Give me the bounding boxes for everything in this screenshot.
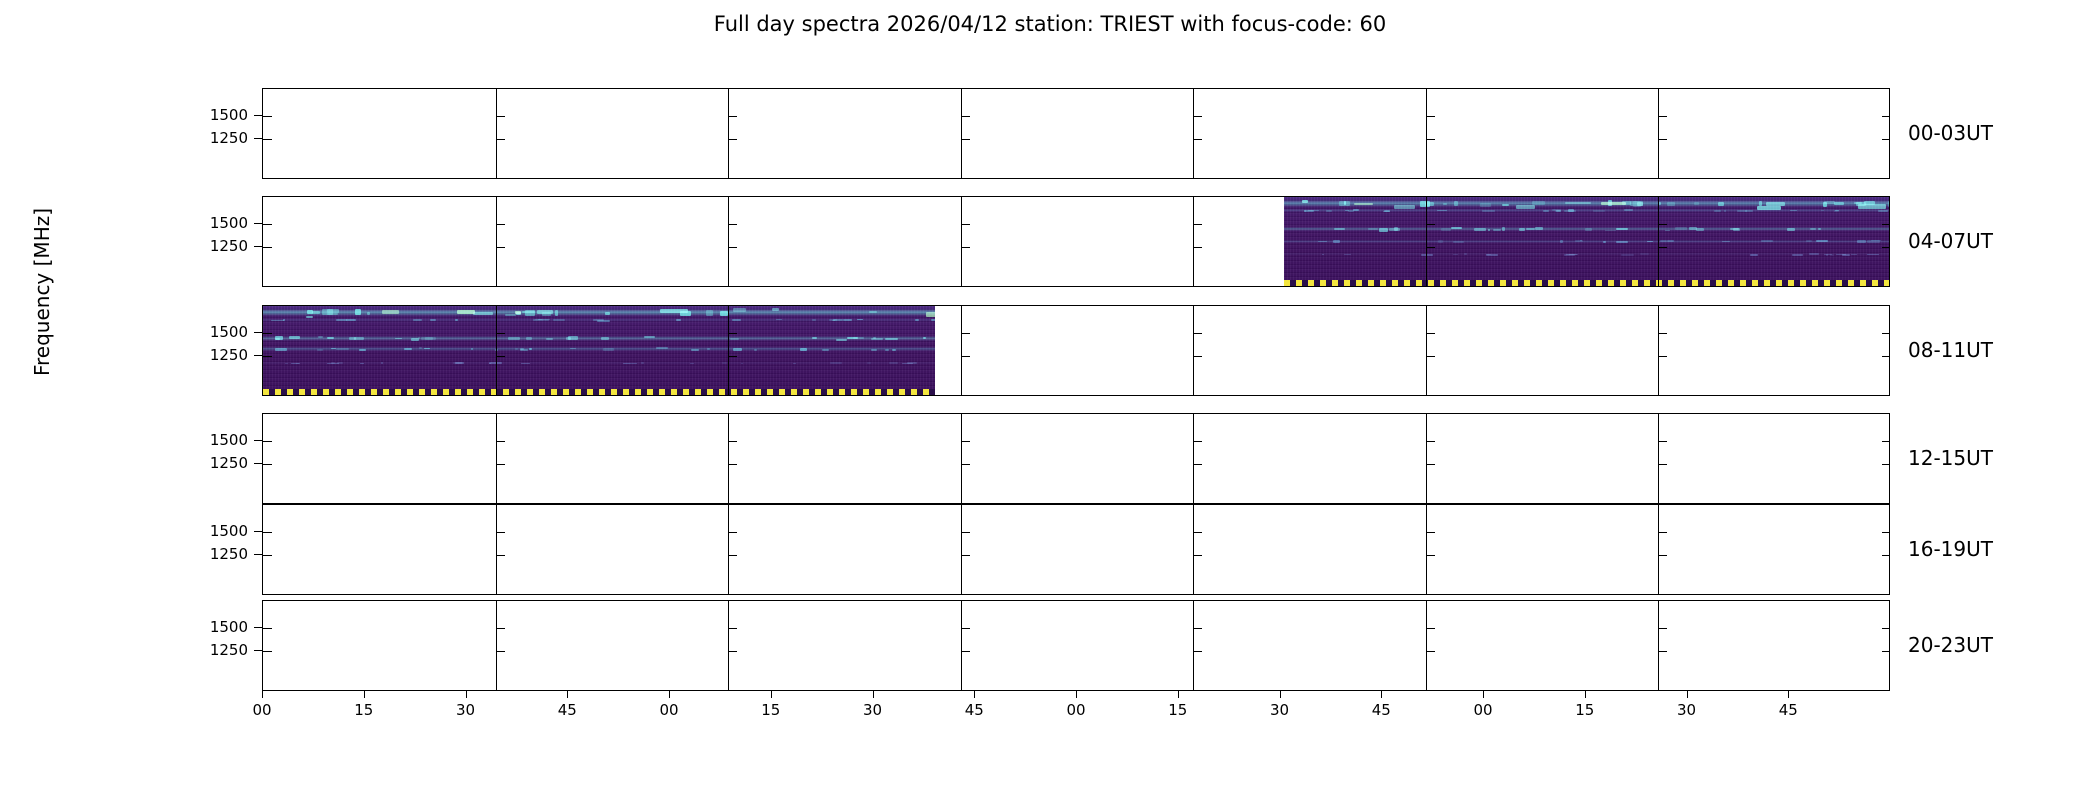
rfi-speckle: [1616, 228, 1628, 230]
rfi-speckle: [1889, 240, 1890, 242]
subpanel-divider: [1426, 197, 1427, 286]
rfi-burst: [926, 312, 935, 316]
x-tick-label: 30: [1667, 701, 1707, 719]
x-tick-label: 45: [1361, 701, 1401, 719]
y-tick-mark: [1426, 247, 1435, 248]
rfi-speckle: [720, 311, 729, 316]
rfi-speckle: [1451, 227, 1462, 229]
rfi-speckle: [1730, 228, 1740, 230]
rfi-speckle: [1718, 202, 1724, 205]
subpanel-divider: [496, 505, 497, 594]
y-tick-mark: [1658, 464, 1667, 465]
rfi-speckle: [706, 310, 713, 316]
y-tick-mark: [1426, 555, 1435, 556]
rfi-speckle: [1810, 228, 1816, 230]
rfi-speckle: [1750, 254, 1758, 256]
y-axis-label: Frequency [MHz]: [30, 162, 54, 422]
y-tick-mark: [496, 224, 505, 225]
rfi-speckle: [1304, 210, 1314, 212]
y-tick-mark: [1193, 139, 1202, 140]
y-tick-mark: [263, 555, 272, 556]
x-tick-mark: [262, 691, 263, 698]
y-tick-mark: [728, 247, 737, 248]
y-tick-mark: [1882, 224, 1890, 225]
rfi-burst: [660, 309, 688, 312]
rfi-speckle: [1761, 240, 1773, 243]
spectrogram-row-00-03ut[interactable]: [262, 88, 1890, 179]
x-tick-mark: [771, 691, 772, 698]
rfi-speckle: [1453, 241, 1464, 243]
y-tick-label: 1250: [186, 454, 248, 472]
x-tick-label: 15: [1565, 701, 1605, 719]
subpanel-divider: [1426, 601, 1427, 690]
subpanel-divider: [1426, 306, 1427, 395]
y-tick-mark: [496, 532, 505, 533]
rfi-speckle: [691, 349, 699, 351]
rfi-speckle: [690, 363, 694, 365]
rfi-speckle: [601, 337, 609, 340]
rfi-speckle: [1867, 240, 1879, 242]
x-tick-label: 30: [1260, 701, 1300, 719]
rfi-speckle: [1722, 241, 1730, 243]
rfi-speckle: [275, 348, 288, 351]
y-tick-mark: [961, 116, 970, 117]
y-tick-mark: [1193, 628, 1202, 629]
y-tick-mark: [254, 627, 262, 628]
rfi-burst: [1302, 200, 1308, 203]
rfi-speckle: [1394, 227, 1398, 230]
rfi-speckle: [707, 348, 710, 350]
y-tick-mark: [496, 333, 505, 334]
rfi-speckle: [722, 362, 726, 364]
rfi-streak: [263, 309, 935, 316]
rfi-burst: [382, 310, 399, 314]
subpanel-divider: [961, 601, 962, 690]
y-tick-mark: [1658, 247, 1667, 248]
y-tick-mark: [1658, 224, 1667, 225]
y-tick-mark: [254, 138, 262, 139]
y-tick-mark: [263, 464, 272, 465]
y-tick-label: 1250: [186, 346, 248, 364]
rfi-speckle: [1334, 228, 1344, 230]
subpanel-divider: [728, 306, 729, 395]
spectrogram-data-04-07ut[interactable]: [1284, 197, 1890, 286]
x-tick-mark: [567, 691, 568, 698]
subpanel-divider: [961, 505, 962, 594]
rfi-speckle: [289, 336, 300, 338]
y-tick-mark: [496, 356, 505, 357]
rfi-burst: [1565, 202, 1591, 204]
y-tick-mark: [1658, 441, 1667, 442]
y-tick-mark: [1426, 116, 1435, 117]
rfi-streak: [263, 336, 935, 341]
rfi-speckle: [1339, 201, 1350, 206]
y-tick-mark: [1658, 532, 1667, 533]
y-tick-mark: [728, 651, 737, 652]
rfi-speckle: [1493, 229, 1501, 231]
y-tick-mark: [961, 532, 970, 533]
marker-dotted-row: [1284, 280, 1890, 286]
rfi-speckle: [885, 338, 898, 340]
y-tick-mark: [263, 139, 272, 140]
y-tick-mark: [1193, 555, 1202, 556]
y-tick-mark: [1882, 651, 1890, 652]
rfi-burst: [1354, 203, 1373, 205]
subpanel-divider: [1193, 89, 1194, 178]
rfi-speckle: [505, 314, 515, 316]
rfi-burst: [537, 310, 553, 314]
rfi-speckle: [367, 312, 370, 315]
rfi-speckle: [1826, 254, 1829, 256]
y-tick-mark: [263, 247, 272, 248]
rfi-speckle: [593, 319, 604, 321]
y-tick-mark: [728, 532, 737, 533]
rfi-speckle: [867, 362, 871, 364]
rfi-speckle: [1535, 227, 1543, 230]
row-label-08-11ut: 08-11UT: [1908, 338, 1993, 362]
rfi-speckle: [1564, 210, 1576, 212]
x-tick-mark: [1687, 691, 1688, 698]
plot-area: [262, 88, 1890, 710]
subpanel-divider: [1426, 89, 1427, 178]
y-tick-mark: [961, 356, 970, 357]
rfi-burst: [1601, 202, 1626, 205]
subpanel-divider: [1193, 505, 1194, 594]
rfi-speckle: [419, 347, 421, 349]
rfi-burst: [772, 308, 779, 310]
y-tick-mark: [1882, 356, 1890, 357]
subpanel-divider: [1426, 414, 1427, 503]
y-tick-label: 1500: [186, 431, 248, 449]
y-tick-mark: [1426, 139, 1435, 140]
y-tick-mark: [1658, 116, 1667, 117]
subpanel-divider: [1658, 306, 1659, 395]
rfi-speckle: [1368, 228, 1379, 230]
y-tick-mark: [263, 333, 272, 334]
subpanel-divider: [1658, 89, 1659, 178]
subpanel-divider: [496, 306, 497, 395]
rfi-speckle: [1560, 240, 1563, 242]
rfi-speckle: [1454, 201, 1458, 205]
rfi-speckle: [1834, 202, 1844, 204]
spectrogram-data-08-11ut[interactable]: [263, 306, 935, 395]
subpanel-divider: [1658, 197, 1659, 286]
rfi-speckle: [1344, 254, 1351, 256]
y-tick-mark: [1193, 464, 1202, 465]
rfi-speckle: [730, 338, 739, 340]
rfi-speckle: [869, 311, 877, 313]
rfi-speckle: [312, 311, 320, 314]
y-tick-mark: [961, 651, 970, 652]
y-tick-mark: [496, 116, 505, 117]
y-tick-mark: [254, 115, 262, 116]
rfi-speckle: [508, 337, 521, 340]
rfi-burst: [733, 308, 747, 312]
x-tick-mark: [466, 691, 467, 698]
rfi-speckle: [1694, 202, 1699, 204]
y-tick-mark: [263, 532, 272, 533]
rfi-speckle: [1745, 210, 1753, 212]
x-tick-mark: [1788, 691, 1789, 698]
y-tick-mark: [728, 441, 737, 442]
rfi-speckle: [1821, 210, 1824, 212]
rfi-speckle: [822, 349, 829, 351]
spectrogram-row-04-07ut[interactable]: [262, 196, 1890, 287]
rfi-speckle: [931, 319, 936, 321]
y-tick-mark: [1426, 333, 1435, 334]
subpanel-divider: [728, 414, 729, 503]
rfi-speckle: [923, 337, 926, 339]
subpanel-divider: [1193, 414, 1194, 503]
y-tick-mark: [1882, 464, 1890, 465]
rfi-speckle: [1480, 203, 1491, 207]
spectrogram-row-16-19ut[interactable]: [262, 504, 1890, 595]
rfi-speckle: [1482, 210, 1494, 212]
rfi-speckle: [360, 363, 364, 365]
subpanel-divider: [1193, 197, 1194, 286]
x-tick-mark: [1381, 691, 1382, 698]
x-tick-label: 30: [446, 701, 486, 719]
rfi-speckle: [1792, 254, 1802, 256]
subpanel-divider: [961, 306, 962, 395]
y-tick-mark: [728, 464, 737, 465]
y-tick-mark: [1426, 356, 1435, 357]
rfi-speckle: [355, 309, 361, 314]
rfi-speckle: [1502, 227, 1504, 230]
row-label-04-07ut: 04-07UT: [1908, 229, 1993, 253]
y-tick-mark: [1426, 628, 1435, 629]
rfi-speckle: [1889, 210, 1890, 212]
subpanel-divider: [1193, 306, 1194, 395]
x-tick-mark: [873, 691, 874, 698]
rfi-speckle: [354, 337, 364, 340]
y-tick-mark: [728, 139, 737, 140]
rfi-streak: [1284, 240, 1890, 243]
x-tick-mark: [1585, 691, 1586, 698]
rfi-speckle: [800, 348, 807, 351]
rfi-speckle: [1474, 228, 1485, 231]
rfi-speckle: [605, 312, 610, 315]
rfi-speckle: [1867, 254, 1878, 256]
y-tick-label: 1500: [186, 323, 248, 341]
rfi-speckle: [1569, 254, 1577, 256]
y-tick-mark: [254, 440, 262, 441]
rfi-speckle: [1526, 228, 1535, 230]
rfi-speckle: [317, 349, 323, 351]
y-tick-mark: [1193, 356, 1202, 357]
rfi-speckle: [656, 347, 667, 349]
rfi-speckle: [1326, 210, 1332, 212]
y-tick-label: 1250: [186, 641, 248, 659]
rfi-speckle: [1888, 201, 1890, 206]
subpanel-divider: [496, 89, 497, 178]
y-tick-mark: [1193, 247, 1202, 248]
rfi-burst: [516, 312, 521, 315]
y-tick-mark: [1658, 333, 1667, 334]
y-tick-label: 1500: [186, 522, 248, 540]
rfi-speckle: [291, 363, 301, 365]
x-tick-label: 00: [1056, 701, 1096, 719]
subpanel-divider: [496, 601, 497, 690]
rfi-speckle: [1714, 210, 1720, 212]
y-tick-label: 1500: [186, 214, 248, 232]
x-tick-label: 45: [547, 701, 587, 719]
row-label-16-19ut: 16-19UT: [1908, 537, 1993, 561]
rfi-speckle: [271, 320, 284, 322]
y-tick-mark: [1882, 532, 1890, 533]
y-tick-label: 1250: [186, 545, 248, 563]
y-tick-mark: [1658, 651, 1667, 652]
rfi-speckle: [676, 319, 681, 321]
x-tick-label: 00: [649, 701, 689, 719]
subpanel-divider: [961, 414, 962, 503]
rfi-speckle: [1556, 210, 1560, 212]
rfi-speckle: [413, 319, 422, 321]
subpanel-divider: [1658, 601, 1659, 690]
y-tick-mark: [1193, 651, 1202, 652]
y-tick-mark: [254, 531, 262, 532]
y-tick-mark: [254, 650, 262, 651]
x-tick-mark: [974, 691, 975, 698]
rfi-speckle: [546, 338, 553, 340]
y-tick-mark: [1882, 139, 1890, 140]
x-tick-mark: [1483, 691, 1484, 698]
y-tick-mark: [1882, 333, 1890, 334]
rfi-speckle: [1689, 227, 1697, 230]
rfi-speckle: [1543, 210, 1549, 212]
x-tick-label: 45: [954, 701, 994, 719]
rfi-speckle: [1660, 240, 1666, 242]
x-tick-label: 15: [751, 701, 791, 719]
rfi-speckle: [733, 348, 742, 351]
x-tick-label: 00: [242, 701, 282, 719]
y-tick-mark: [961, 247, 970, 248]
y-tick-mark: [1426, 464, 1435, 465]
y-tick-label: 1250: [186, 237, 248, 255]
y-tick-mark: [254, 463, 262, 464]
y-tick-mark: [1193, 333, 1202, 334]
y-tick-mark: [263, 116, 272, 117]
subpanel-divider: [728, 601, 729, 690]
y-tick-mark: [254, 554, 262, 555]
y-tick-mark: [728, 628, 737, 629]
y-tick-mark: [728, 555, 737, 556]
rfi-speckle: [1593, 210, 1606, 212]
rfi-speckle: [1830, 254, 1833, 256]
rfi-speckle: [455, 362, 464, 364]
rfi-speckle: [1667, 202, 1675, 207]
rfi-speckle: [404, 348, 412, 350]
rfi-speckle: [902, 363, 913, 365]
y-tick-mark: [961, 464, 970, 465]
y-tick-label: 1500: [186, 618, 248, 636]
rfi-speckle: [830, 362, 842, 364]
x-tick-label: 45: [1768, 701, 1808, 719]
subpanel-divider: [1426, 505, 1427, 594]
y-tick-mark: [1193, 532, 1202, 533]
rfi-speckle: [336, 348, 349, 351]
rfi-speckle: [1809, 253, 1819, 255]
rfi-streak: [1284, 209, 1890, 212]
rfi-speckle: [515, 348, 518, 350]
y-tick-mark: [263, 441, 272, 442]
rfi-speckle: [836, 339, 847, 341]
rfi-speckle: [489, 363, 491, 365]
rfi-speckle: [1441, 228, 1450, 231]
rfi-speckle: [1857, 240, 1866, 242]
x-tick-mark: [1280, 691, 1281, 698]
rfi-burst: [306, 316, 312, 318]
y-tick-mark: [961, 224, 970, 225]
rfi-speckle: [1834, 210, 1840, 212]
rfi-speckle: [1437, 210, 1448, 212]
rfi-speckle: [1502, 204, 1509, 206]
rfi-speckle: [307, 310, 313, 315]
y-tick-mark: [1882, 555, 1890, 556]
y-tick-mark: [1882, 247, 1890, 248]
y-tick-mark: [496, 464, 505, 465]
spectrogram-row-12-15ut[interactable]: [262, 413, 1890, 504]
x-tick-label: 30: [853, 701, 893, 719]
rfi-speckle: [327, 337, 333, 340]
spectrogram-row-20-23ut[interactable]: [262, 600, 1890, 691]
y-tick-mark: [1193, 224, 1202, 225]
y-tick-mark: [496, 247, 505, 248]
y-tick-mark: [1426, 441, 1435, 442]
rfi-speckle: [322, 309, 333, 315]
rfi-speckle: [526, 337, 533, 340]
y-tick-mark: [496, 139, 505, 140]
rfi-speckle: [1621, 254, 1634, 256]
rfi-speckle: [847, 337, 858, 340]
subpanel-divider: [496, 414, 497, 503]
rfi-speckle: [359, 349, 366, 351]
rfi-speckle: [1605, 230, 1616, 232]
y-tick-mark: [961, 333, 970, 334]
y-tick-mark: [961, 628, 970, 629]
spectrogram-row-08-11ut[interactable]: [262, 305, 1890, 396]
rfi-speckle: [1824, 201, 1835, 204]
y-tick-mark: [961, 555, 970, 556]
rfi-speckle: [1379, 228, 1388, 232]
y-tick-mark: [496, 555, 505, 556]
rfi-burst: [1637, 202, 1643, 206]
rfi-speckle: [1665, 230, 1670, 232]
row-label-00-03ut: 00-03UT: [1908, 121, 1993, 145]
rfi-speckle: [1724, 210, 1726, 212]
rfi-speckle: [892, 349, 896, 351]
y-tick-mark: [254, 355, 262, 356]
rfi-speckle: [555, 310, 558, 316]
row-label-20-23ut: 20-23UT: [1908, 633, 1993, 657]
subpanel-divider: [728, 505, 729, 594]
y-tick-label: 1500: [186, 106, 248, 124]
y-tick-mark: [263, 628, 272, 629]
subpanel-divider: [1193, 601, 1194, 690]
rfi-speckle: [421, 337, 433, 340]
x-tick-mark: [1178, 691, 1179, 698]
y-tick-mark: [496, 628, 505, 629]
y-tick-mark: [961, 139, 970, 140]
rfi-speckle: [346, 319, 356, 321]
y-tick-mark: [1193, 116, 1202, 117]
rfi-speckle: [885, 349, 889, 351]
rfi-speckle: [566, 337, 571, 341]
rfi-speckle: [889, 362, 897, 364]
y-tick-mark: [1658, 356, 1667, 357]
rfi-burst: [1757, 206, 1781, 210]
rfi-speckle: [1878, 210, 1889, 212]
